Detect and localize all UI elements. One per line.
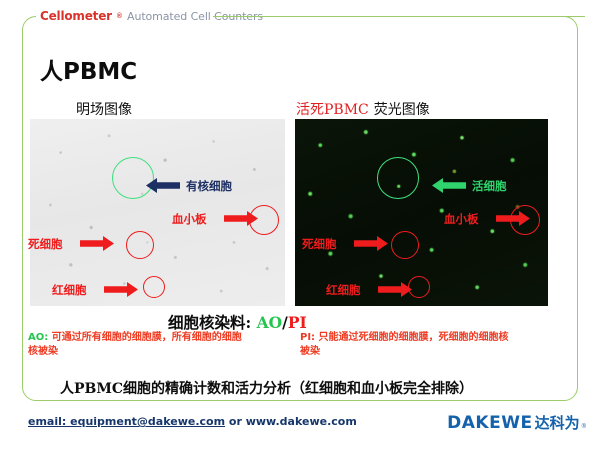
stain-prefix: 细胞核染料: xyxy=(168,313,257,332)
header-rule xyxy=(213,16,585,17)
right-arrow-dead-cell-icon xyxy=(352,234,390,253)
note-pi: PI: 只能通过死细胞的细胞膜，死细胞的细胞核被染 xyxy=(300,331,515,359)
left-red-circle-dead-cell xyxy=(126,231,154,259)
right-label-platelet: 血小板 xyxy=(444,211,479,227)
footer-connector: or xyxy=(225,415,246,428)
left-arrow-nucleated-cells-icon xyxy=(144,176,182,195)
email-link[interactable]: email: equipment@dakewe.com xyxy=(28,415,225,428)
left-red-circle-rbc xyxy=(143,276,165,298)
left-arrow-platelet-icon xyxy=(222,209,260,228)
left-panel-caption: 明场图像 xyxy=(76,99,132,119)
left-label-dead-cell: 死细胞 xyxy=(28,236,63,252)
right-label-live-cells: 活细胞 xyxy=(472,178,507,194)
left-arrow-dead-cell-icon xyxy=(78,234,116,253)
right-arrow-platelet-icon xyxy=(494,209,532,228)
brand-name: Cellometer xyxy=(40,9,112,23)
right-panel-caption: 活死PBMC荧光图像 xyxy=(296,99,430,119)
note-pi-text: 只能通过死细胞的细胞膜，死细胞的细胞核被染 xyxy=(300,332,509,357)
left-label-platelet: 血小板 xyxy=(172,211,207,227)
note-ao-text: 可通过所有细胞的细胞膜，所有细胞的细胞核被染 xyxy=(28,332,242,357)
left-arrow-rbc-icon xyxy=(102,280,140,299)
right-green-circle-live-cells xyxy=(377,157,419,199)
right-label-rbc: 红细胞 xyxy=(326,282,361,298)
right-arrow-live-cells-icon xyxy=(430,176,468,195)
right-arrow-rbc-icon xyxy=(376,280,414,299)
logo-registered-icon: ® xyxy=(582,424,586,430)
slide-canvas: Cellometer® Automated Cell Counters 人PBM… xyxy=(0,0,600,450)
note-ao: AO: 可通过所有细胞的细胞膜，所有细胞的细胞核被染 xyxy=(28,331,243,359)
registered-trademark-icon: ® xyxy=(117,13,122,20)
right-caption-red-part: 活死PBMC xyxy=(296,102,369,118)
stain-ao: AO xyxy=(257,313,283,332)
page-title: 人PBMC xyxy=(40,52,137,86)
conclusion-text: 人PBMC细胞的精确计数和活力分析（红细胞和血小板完全排除） xyxy=(60,378,473,398)
logo-english-name: DAKEWE xyxy=(447,413,532,433)
note-ao-tag: AO: xyxy=(28,332,52,343)
right-caption-black-part: 荧光图像 xyxy=(374,102,430,118)
left-label-nucleated-cells: 有核细胞 xyxy=(186,178,232,194)
right-red-circle-dead-cell xyxy=(391,231,419,259)
footer-contact: email: equipment@dakewe.com or www.dakew… xyxy=(28,415,357,428)
right-label-dead-cell: 死细胞 xyxy=(302,236,337,252)
stain-pi: PI xyxy=(288,313,307,332)
dakewe-logo: DAKEWE达科为® xyxy=(447,412,586,433)
left-label-rbc: 红细胞 xyxy=(52,282,87,298)
logo-chinese-name: 达科为 xyxy=(535,412,580,433)
stain-heading: 细胞核染料: AO/PI xyxy=(168,311,307,333)
note-pi-tag: PI: xyxy=(300,332,319,343)
website-text[interactable]: www.dakewe.com xyxy=(246,415,357,428)
